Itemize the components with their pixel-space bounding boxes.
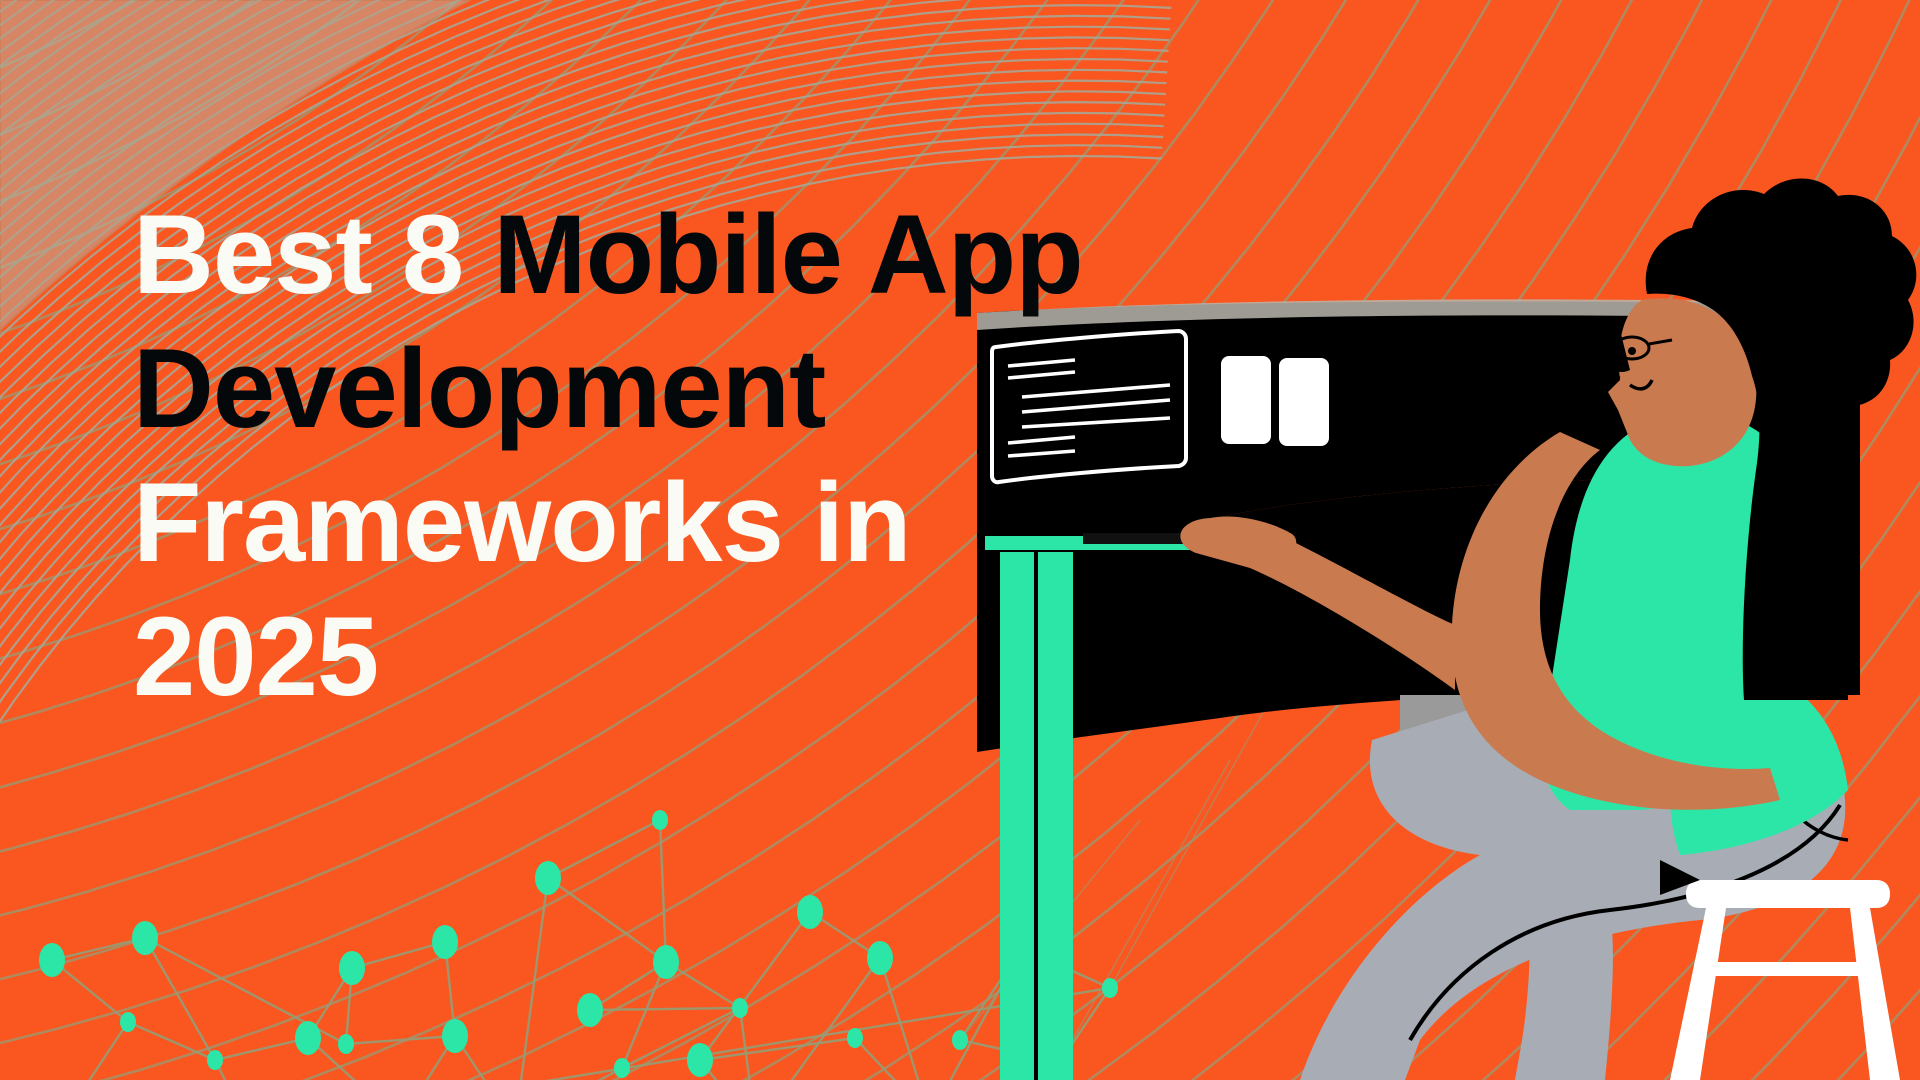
- stool-seat: [1686, 880, 1890, 908]
- headline-line-1-white: Best 8: [133, 192, 493, 317]
- headline-line-1: Best 8 Mobile App: [133, 188, 1213, 322]
- headline-line-4: 2025: [133, 590, 1213, 724]
- stool-leg-left: [1670, 908, 1726, 1080]
- stool-leg-right: [1850, 908, 1900, 1080]
- headline-line-1-black: Mobile App: [493, 192, 1082, 317]
- headline-line-2: Development: [133, 322, 1213, 456]
- blog-banner: Best 8 Mobile App Development Frameworks…: [0, 0, 1920, 1080]
- stool: [1660, 860, 1900, 1080]
- person-eye: [1628, 347, 1636, 355]
- headline-line-3-white: Frameworks in: [133, 460, 911, 585]
- stool-crossbar: [1700, 962, 1876, 976]
- page-title: Best 8 Mobile App Development Frameworks…: [133, 188, 1213, 724]
- headline-line-4-white: 2025: [133, 594, 378, 719]
- phone-mockup-left: [1221, 356, 1271, 444]
- headline-line-3: Frameworks in: [133, 456, 1213, 590]
- phone-mockup-right: [1279, 358, 1329, 446]
- headline-line-2-black: Development: [133, 326, 825, 451]
